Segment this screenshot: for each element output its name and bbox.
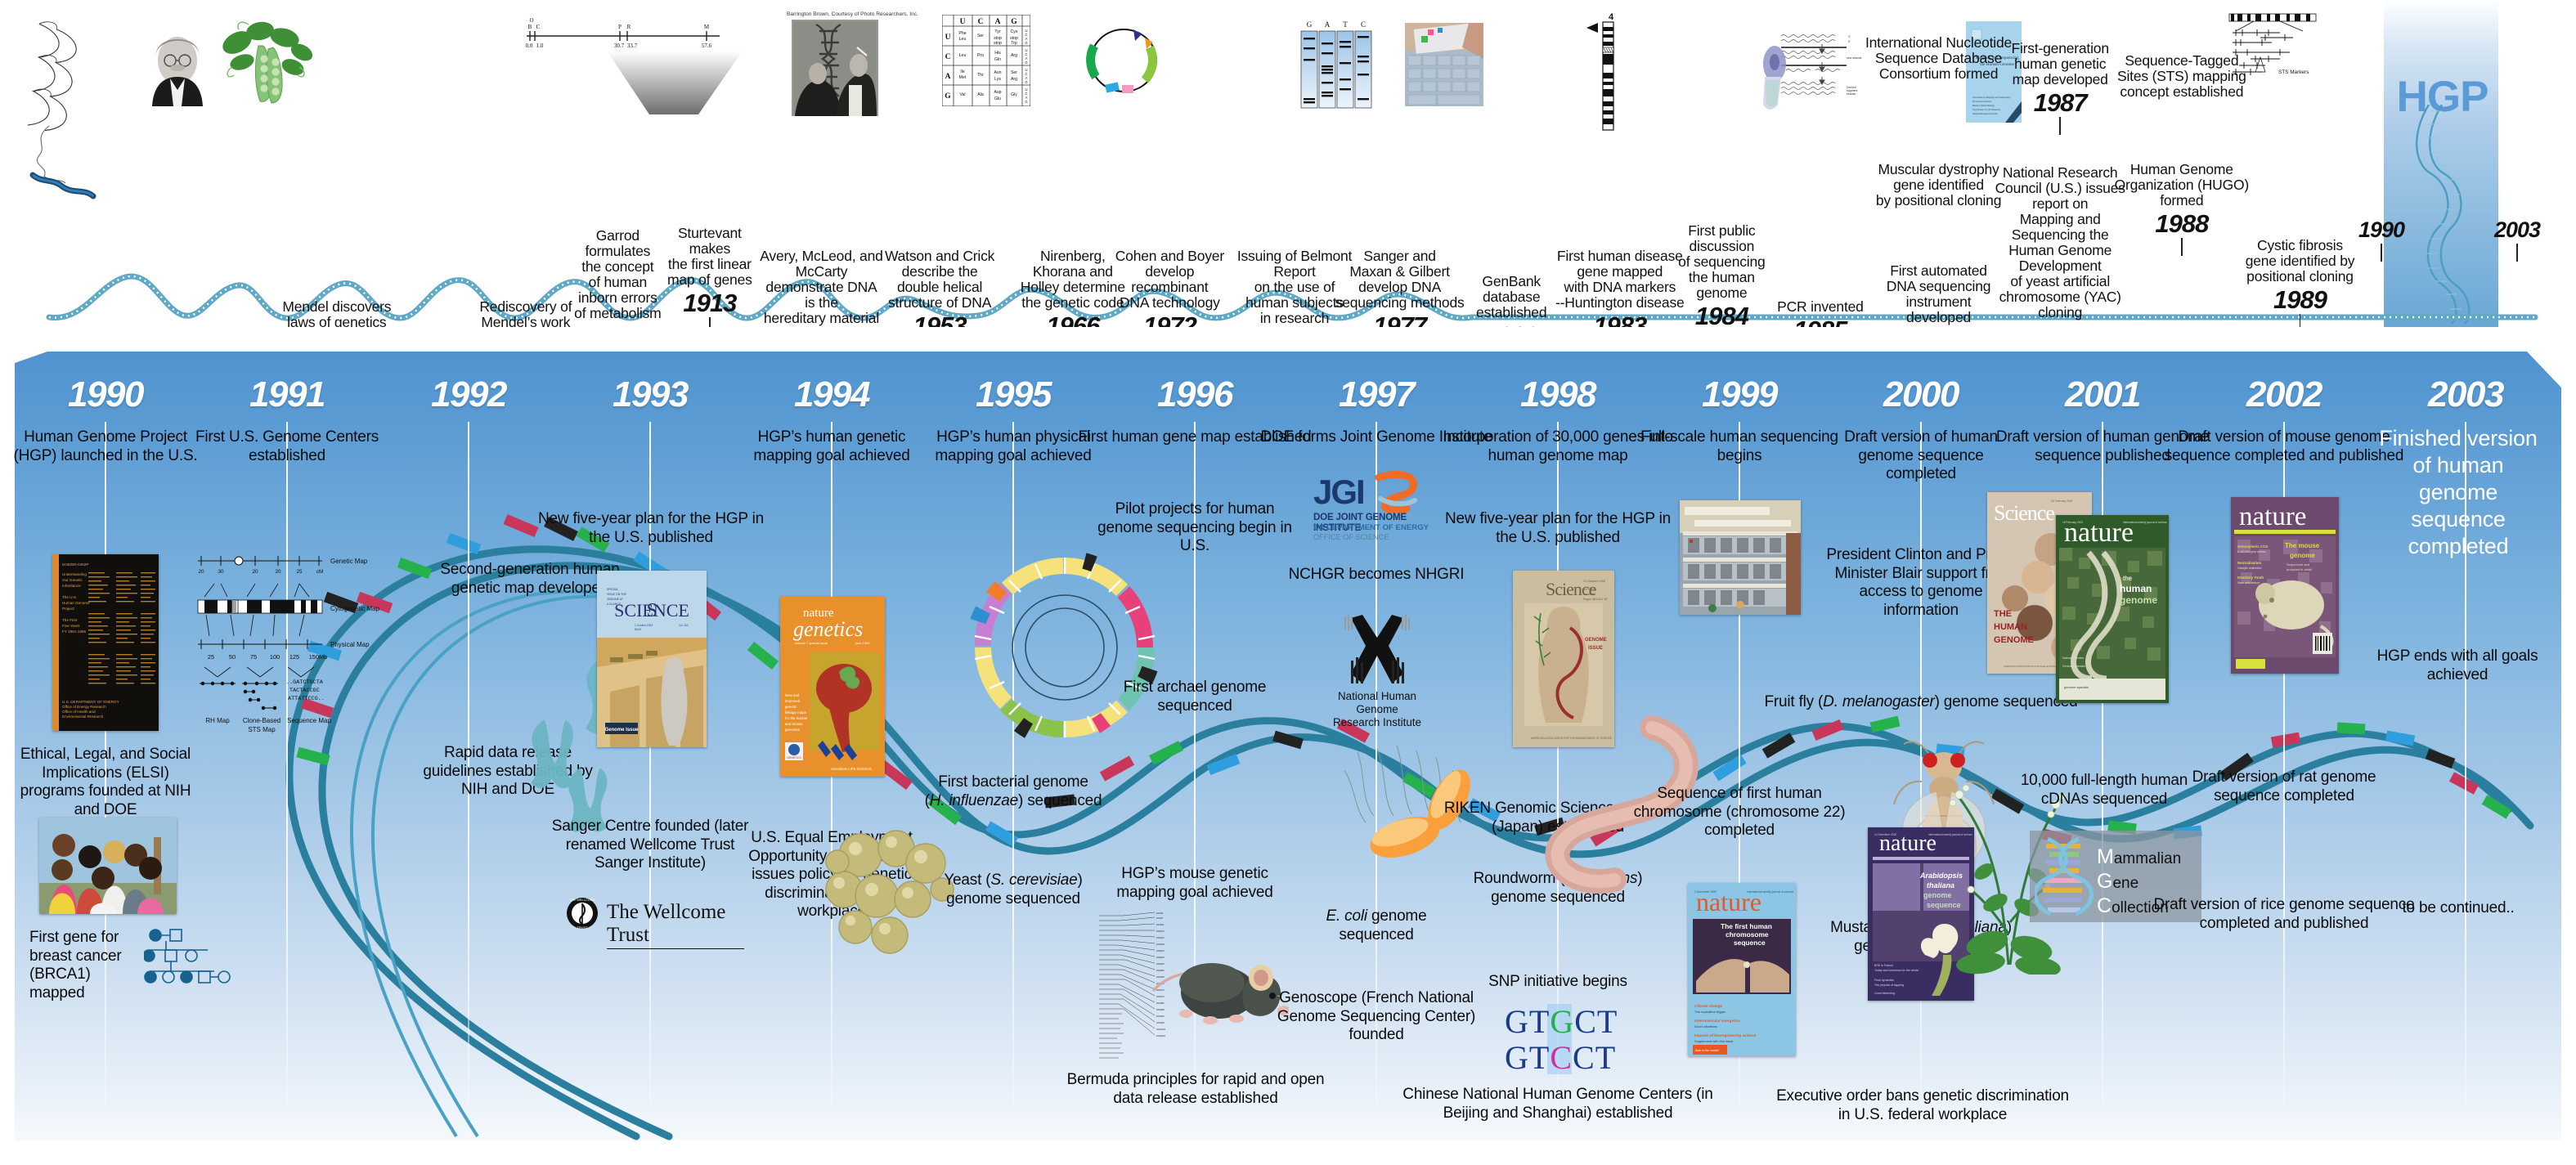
svg-text:genomes: genomes	[785, 728, 801, 732]
svg-text:Cys: Cys	[1011, 29, 1018, 34]
year-column-1991: 1991 First U.S. Genome Centers establish…	[196, 352, 378, 1140]
year-rule	[286, 422, 288, 1105]
historic-event-caption: Mendel discovers laws of genetics	[259, 299, 415, 327]
svg-text:stop: stop	[994, 41, 1002, 46]
year-column-1998: 1998 Incorporation of 30,000 genes into …	[1467, 352, 1649, 1140]
year-label: 1995	[922, 374, 1104, 415]
svg-text:Ile: Ile	[960, 69, 965, 74]
plasmid-map-diagram	[1078, 23, 1169, 98]
year-label: 1994	[741, 374, 922, 415]
svg-text:Climate change: Climate change	[1694, 1004, 1722, 1008]
jgi-mark: JGI	[1313, 473, 1364, 512]
svg-text:U.S. DEPARTMENT OF ENERGY: U.S. DEPARTMENT OF ENERGY	[62, 700, 119, 704]
year-column-1990: 1990 Human Genome Project (HGP) launched…	[15, 352, 196, 1140]
historic-event-1865: Mendel discovers laws of genetics1865	[259, 299, 415, 327]
svg-text:The First: The First	[62, 618, 78, 622]
svg-text:THE WELLCOME: THE WELLCOME	[569, 898, 595, 902]
genetic-map-label: Genetic Map	[330, 558, 368, 565]
svg-text:15 February 2001: 15 February 2001	[2062, 521, 2083, 524]
svg-text:Thr: Thr	[977, 73, 984, 78]
svg-text:Gly: Gly	[1011, 92, 1017, 97]
year-label: 1992	[378, 374, 559, 415]
svg-text:Sequenced and: Sequenced and	[2287, 562, 2309, 567]
svg-text:No. 5389: No. 5389	[1583, 593, 1595, 596]
nhgri-wordmark: National Human Genome Research Institute	[1320, 690, 1434, 729]
year-column-1992: 1992 Second-generation human genetic map…	[378, 352, 559, 1140]
historic-event-caption: Watson and Crick describe the double hel…	[862, 249, 1017, 311]
svg-text:D1Mit22: D1Mit22	[1156, 936, 1165, 939]
note-new-five-year-plan-1998: New five-year plan for the HGP in the U.…	[1438, 510, 1678, 547]
historic-event-caption: Human Genome Organization (HUGO) formed	[2104, 162, 2260, 208]
svg-text:Amersham LIFE SCIENCE: Amersham LIFE SCIENCE	[831, 767, 872, 771]
svg-text:50: 50	[229, 653, 236, 661]
svg-text:G: G	[1011, 18, 1017, 26]
svg-text:16 February 2001: 16 February 2001	[2051, 500, 2073, 503]
note-brca1-mapped: First gene for breast cancer (BRCA1) map…	[29, 929, 144, 1002]
historic-event-year: 1953	[862, 312, 1017, 327]
svg-text:DOE/ER-0452P: DOE/ER-0452P	[62, 562, 88, 567]
svg-text:U: U	[960, 18, 966, 26]
svg-text:14 December 2000: 14 December 2000	[1874, 833, 1896, 836]
svg-text:Understanding: Understanding	[62, 572, 87, 576]
svg-text:GENOME: GENOME	[1585, 638, 1607, 643]
jgi-logo: JGI DOE JOINT GENOME INSTITUTE US DEPART…	[1313, 473, 1443, 544]
note-first-bacterial-genome: First bacterial genome(H. influenzae) se…	[913, 773, 1114, 810]
historic-event-tick	[709, 317, 711, 327]
svg-text:ATTATTCCG..: ATTATTCCG..	[288, 696, 325, 702]
year-column-1993: 1993 New five-year plan for the HGP in t…	[559, 352, 741, 1140]
svg-text:FY 1991-1995: FY 1991-1995	[62, 630, 86, 634]
svg-text:the: the	[2123, 575, 2133, 582]
svg-text:strands: strands	[1847, 92, 1856, 96]
svg-text:Vol. 262: Vol. 262	[679, 624, 689, 627]
watson-crick-photo	[792, 20, 878, 116]
svg-text:Office of Energy Research: Office of Energy Research	[62, 705, 106, 709]
nature-mouse-genome-cover: nature The mousegenome Sequenced andanal…	[2231, 497, 2339, 674]
svg-text:GENOME: GENOME	[1994, 635, 2034, 645]
svg-text:new strands: new strands	[1847, 56, 1862, 60]
nature-genetics-cover: nature genetics volume 7 special issueju…	[780, 597, 885, 777]
svg-text:Ser: Ser	[1011, 70, 1017, 75]
year-label: 1999	[1649, 374, 1830, 415]
computer-keyboard-photo	[1405, 23, 1483, 106]
svg-text:C: C	[1361, 20, 1366, 29]
svg-text:U: U	[945, 34, 951, 42]
svg-text:genome specials: genome specials	[2064, 685, 2089, 689]
svg-text:TACTACCGC: TACTACCGC	[289, 688, 320, 694]
mgc-dna-icon	[2035, 836, 2095, 917]
historic-event-caption: Development of yeast artificial chromoso…	[1982, 258, 2138, 320]
svg-text:ISSUE ON THE: ISSUE ON THE	[607, 593, 627, 596]
svg-text:Lys: Lys	[994, 77, 1001, 82]
svg-text:GENOME AT: GENOME AT	[607, 598, 623, 601]
svg-text:D1Mit7: D1Mit7	[1156, 916, 1164, 920]
wellcome-trust-logo: THE WELLCOMETRUST The Wellcome Trust	[564, 896, 744, 930]
note-sanger-centre-founded: Sanger Centre founded (later renamed Wel…	[540, 818, 761, 873]
chromosome-4-ideogram: 4	[1586, 11, 1622, 134]
svg-text:A GLANCE: A GLANCE	[607, 603, 622, 606]
year-label: 1991	[196, 374, 378, 415]
svg-text:The crystalline trigger: The crystalline trigger	[1694, 1010, 1726, 1014]
svg-text:cM: cM	[316, 569, 324, 575]
svg-text:D1Mit16: D1Mit16	[1156, 930, 1165, 933]
note-genoscope-founded: Genoscope (French National Genome Sequen…	[1259, 989, 1493, 1045]
svg-text:A: A	[945, 73, 951, 81]
svg-text:1.0: 1.0	[536, 43, 544, 49]
year-column-2002: 2002 Draft version of mouse genome seque…	[2193, 352, 2375, 1140]
svg-text:ISSUE: ISSUE	[1588, 646, 1603, 651]
svg-text:..GATCTGCTA: ..GATCTGCTA	[286, 679, 324, 686]
nhgri-chromosome-icon	[1336, 613, 1418, 688]
year-column-2000: 2000 Draft version of human genome seque…	[1830, 352, 2012, 1140]
year-label: 2001	[2012, 374, 2193, 415]
svg-text:Catalytic antibodies: Catalytic antibodies	[2237, 567, 2262, 570]
svg-text:$7: $7	[1604, 598, 1608, 601]
svg-text:G: G	[945, 92, 951, 101]
svg-text:GENETICS: GENETICS	[787, 756, 801, 759]
wellcome-trust-seal-icon: THE WELLCOMETRUST	[564, 896, 600, 930]
year-column-1997: 1997 DOE forms Joint Genome Institute JG…	[1286, 352, 1467, 1140]
note-first-archael-genome: First archael genome sequenced	[1091, 679, 1299, 715]
year-column-1996: 1996 First human gene map established Pi…	[1104, 352, 1286, 1140]
note-rat-genome-draft: Draft version of rat genome sequence com…	[2165, 768, 2403, 805]
nature-first-human-chromosome-cover: nature 2 December 1999International week…	[1688, 883, 1796, 1056]
svg-text:BSE in France: BSE in France	[1874, 964, 1893, 967]
svg-text:$6.00: $6.00	[635, 628, 641, 631]
svg-text:genetic: genetic	[785, 705, 797, 709]
clone-sts-map-label: Clone-Based	[243, 717, 280, 724]
svg-text:Impacts of bioengineering scie: Impacts of bioengineering science	[1694, 1033, 1757, 1037]
svg-text:C: C	[945, 53, 951, 61]
svg-text:5': 5'	[1848, 40, 1851, 43]
sts-markers-label: STS Markers	[2278, 69, 2309, 75]
year-label: 2003	[2375, 374, 2556, 415]
cytogenetic-map-label: Cytogenetic Map	[330, 605, 380, 612]
svg-text:Atmospheric CO2: Atmospheric CO2	[2237, 544, 2269, 549]
svg-text:volume 7 special issue: volume 7 special issue	[795, 641, 828, 645]
sequence-map-label: Sequence Map	[287, 717, 331, 724]
sequencing-facility-photo	[1680, 500, 1801, 615]
svg-text:Asn: Asn	[994, 70, 1002, 75]
historic-event-caption: First public discussion of sequencing th…	[1644, 223, 1799, 301]
svg-text:nature: nature	[2239, 502, 2306, 531]
year-label: 1996	[1104, 374, 1286, 415]
svg-text:C: C	[536, 24, 541, 30]
svg-text:T: T	[1343, 20, 1348, 29]
historic-event-tick	[2181, 238, 2183, 256]
svg-text:20: 20	[198, 569, 204, 575]
wellcome-trust-wordmark: The Wellcome Trust	[607, 901, 744, 949]
svg-text:100: 100	[270, 653, 280, 661]
svg-text:genome: genome	[2120, 594, 2157, 606]
svg-text:2 December 1999: 2 December 1999	[1694, 890, 1717, 894]
svg-text:A: A	[1325, 20, 1331, 29]
historic-event-year: 2003	[2488, 216, 2547, 244]
year-column-1994: 1994 HGP’s human genetic mapping goal ac…	[741, 352, 922, 1140]
svg-text:International weekly journal o: International weekly journal of science	[2123, 521, 2167, 524]
svg-text:33.7: 33.7	[627, 43, 638, 49]
historic-event-caption: Sequence-Tagged Sites (STS) mapping conc…	[2104, 53, 2260, 100]
pcr-diagram: 3'5'new strandsDesiredfragmentstrands	[1757, 29, 1865, 118]
svg-text:Ser: Ser	[977, 34, 984, 38]
note-full-scale-sequencing: Full-scale human sequencing begins	[1636, 428, 1843, 465]
physical-map-label: Physical Map	[330, 641, 370, 648]
svg-text:International weekly journal o: International weekly journal of science	[1747, 890, 1793, 894]
svg-text:Ala: Ala	[977, 92, 984, 97]
svg-text:Leu: Leu	[959, 53, 967, 58]
svg-text:30.7: 30.7	[614, 43, 625, 49]
svg-text:A 420,000-year archive: A 420,000-year archive	[2237, 550, 2266, 553]
svg-text:The first human: The first human	[1721, 922, 1772, 930]
svg-text:and mouse: and mouse	[785, 722, 803, 726]
svg-text:Human Genome: Human Genome	[62, 601, 90, 605]
svg-text:THE: THE	[1994, 609, 2012, 619]
svg-text:C: C	[978, 18, 984, 26]
historic-bracket-year-2003: 2003	[2488, 214, 2547, 262]
pea-plant-illustration	[218, 16, 314, 110]
children-group-photo	[39, 818, 177, 914]
jgi-line3: OFFICE OF SCIENCE	[1313, 533, 1389, 541]
year-column-2001: 2001 Draft version of human genome seque…	[2012, 352, 2193, 1140]
svg-text:Pages 581-812: Pages 581-812	[1583, 598, 1603, 601]
note-hgp-ends: HGP ends with all goals achieved	[2373, 647, 2542, 684]
svg-text:30: 30	[218, 569, 224, 575]
science-genome-issue-cover: S SCIENCE SPECIALISSUE ON THEGENOME ATA …	[597, 571, 707, 747]
svg-text:B: B	[528, 24, 532, 30]
svg-text:G: G	[1307, 20, 1313, 29]
genome-map-types-diagram: 2030202025cM Genetic Map Cytogenetic Map…	[185, 548, 389, 752]
svg-text:Dentistry Tooth: Dentistry Tooth	[2237, 576, 2264, 580]
svg-text:Environmental Research: Environmental Research	[62, 715, 104, 719]
svg-text:Now on the market: Now on the market	[1695, 1049, 1719, 1052]
year-column-1999: 1999 Full-scale human sequencing begins …	[1649, 352, 1830, 1140]
svg-text:Good vibrations: Good vibrations	[1694, 1024, 1717, 1028]
mgc-line-gene: Gene	[2097, 870, 2138, 894]
svg-text:Fluid dynamics: Fluid dynamics	[1874, 979, 1894, 982]
historic-event-note-19: Development of yeast artificial chromoso…	[1982, 258, 2138, 320]
svg-text:Nature’s Review: Nature’s Review	[2062, 656, 2085, 660]
svg-text:SCIENCE: SCIENCE	[614, 600, 689, 621]
svg-text:23 October 1998: 23 October 1998	[1583, 580, 1605, 583]
hgp-first-five-years-report: DOE/ER-0452P UnderstandingOur GeneticInh…	[52, 554, 159, 731]
svg-text:The physics of tapping: The physics of tapping	[1874, 984, 1904, 987]
svg-text:Intermolecular energetics: Intermolecular energetics	[1694, 1019, 1740, 1023]
note-to-be-continued: to be continued..	[2393, 899, 2524, 918]
historic-event-1953: Watson and Crick describe the double hel…	[862, 249, 1017, 327]
svg-text:G: G	[1025, 60, 1027, 65]
svg-text:june 1994: june 1994	[855, 641, 870, 645]
historic-event-year: 1989	[2223, 286, 2378, 314]
note-first-genome-centers: First U.S. Genome Centers established	[191, 428, 383, 465]
svg-text:genetics: genetics	[793, 617, 863, 641]
year-label: 1998	[1467, 374, 1649, 415]
year-label: 1997	[1286, 374, 1467, 415]
svg-text:G: G	[1025, 41, 1027, 45]
svg-text:Arg: Arg	[1011, 77, 1017, 82]
svg-text:Project:: Project:	[62, 607, 75, 611]
historic-event-tick	[2381, 244, 2382, 262]
codon-table-diagram: UCAG UCAG PheLeuSer Tyrstopstop CysstopT…	[942, 15, 1030, 106]
svg-text:25: 25	[208, 653, 214, 661]
svg-text:Trp: Trp	[1011, 41, 1017, 46]
svg-text:Our Genetic: Our Genetic	[62, 578, 83, 582]
note-nchgr-nhgri: NCHGR becomes NHGRI	[1268, 566, 1485, 585]
svg-text:20: 20	[275, 569, 281, 575]
svg-text:Glu: Glu	[994, 96, 1001, 101]
svg-text:The mouse: The mouse	[2285, 542, 2320, 549]
svg-text:human: human	[2120, 583, 2152, 594]
note-pilot-sequencing-projects: Pilot projects for human genome sequenci…	[1091, 500, 1299, 556]
jgi-line2: US DEPARTMENT OF ENERGY	[1313, 523, 1429, 532]
note-finished-version: Finished version of human genome sequenc…	[2378, 425, 2538, 560]
note-new-five-year-plan-1993: New five-year plan for the HGP in the U.…	[536, 510, 765, 547]
year-column-2003: 2003 Finished version of human genome se…	[2375, 352, 2556, 1140]
historic-event-tick	[2300, 314, 2301, 327]
svg-text:for the human: for the human	[785, 716, 808, 720]
svg-text:sequence: sequence	[1734, 939, 1766, 947]
mgc-line-mammalian: Mammalian	[2097, 845, 2181, 869]
snp-sequence-graphic: GTGCT GTCCT	[1505, 1002, 1660, 1076]
historic-event-note-21: Sequence-Tagged Sites (STS) mapping conc…	[2104, 53, 2260, 100]
svg-text:Today and tomorrow for the who: Today and tomorrow for the whole	[1874, 969, 1919, 972]
sequencing-gel-diagram: GATC	[1299, 20, 1374, 111]
svg-text:0.0: 0.0	[526, 43, 533, 49]
year-column-1995: 1995 HGP’s human physical mapping goal a…	[922, 352, 1104, 1140]
svg-text:O: O	[529, 17, 533, 24]
note-yeast-genome: Yeast (S. cerevisiae)genome sequenced	[913, 872, 1114, 908]
svg-text:Five Years: Five Years	[62, 624, 80, 628]
svg-text:M: M	[704, 24, 710, 30]
year-label: 1993	[559, 374, 741, 415]
snp-top-sequence: GTGCT	[1505, 1002, 1618, 1041]
svg-text:25: 25	[296, 569, 303, 575]
svg-text:D1Mit3: D1Mit3	[1156, 912, 1164, 915]
svg-text:Asp: Asp	[994, 90, 1002, 95]
svg-text:Genome specials: Genome specials	[2062, 665, 2085, 668]
note-genetic-mapping-goal: HGP’s human genetic mapping goal achieve…	[729, 428, 934, 465]
note-mouse-mapping-goal: HGP’s mouse genetic mapping goal achieve…	[1091, 865, 1299, 902]
svg-text:HUMAN: HUMAN	[1994, 622, 2027, 632]
note-elsi-programs: Ethical, Legal, and Social Implications …	[10, 746, 201, 819]
rh-map-label: RH Map	[205, 717, 230, 724]
svg-text:improved: improved	[785, 699, 801, 703]
historic-event-tick	[2059, 117, 2061, 135]
svg-text:TRUST: TRUST	[577, 925, 588, 930]
year-label: 2002	[2193, 374, 2375, 415]
svg-text:G: G	[1025, 80, 1027, 84]
svg-text:Genome Issue: Genome Issue	[604, 728, 639, 733]
svg-text:SPECIAL: SPECIAL	[607, 588, 618, 591]
note-snp-initiative: SNP initiative begins	[1439, 973, 1676, 992]
svg-text:150Mb: 150Mb	[309, 653, 328, 661]
svg-text:STS Map: STS Map	[248, 726, 276, 733]
jgi-swoosh-icon	[1374, 471, 1420, 513]
svg-text:Inheritance: Inheritance	[62, 584, 81, 588]
svg-text:Arg: Arg	[1011, 53, 1017, 58]
svg-text:analysed in detail: analysed in detail	[2287, 567, 2312, 571]
note-chromosome-22: Sequence of first human chromosome (chro…	[1632, 785, 1847, 840]
note-ecoli-genome: E. coli genomesequenced	[1268, 907, 1485, 944]
year-label: 1990	[15, 374, 196, 415]
year-label: 2000	[1830, 374, 2012, 415]
svg-text:A: A	[995, 18, 1001, 26]
nature-human-genome-cover: nature 15 February 2001International wee…	[2056, 515, 2169, 703]
svg-text:Pro: Pro	[977, 53, 984, 58]
svg-text:Met: Met	[959, 75, 967, 80]
svg-text:Coral bleaching: Coral bleaching	[1874, 992, 1895, 995]
svg-text:G: G	[1025, 100, 1027, 104]
svg-text:Phe: Phe	[958, 31, 966, 36]
svg-text:Vol. 282: Vol. 282	[1583, 588, 1594, 591]
note-hgp-launched: Human Genome Project (HGP) launched in t…	[10, 428, 201, 465]
svg-text:genome: genome	[2290, 552, 2315, 559]
svg-text:Supplement with this issue: Supplement with this issue	[1694, 1039, 1734, 1043]
svg-text:125: 125	[289, 653, 299, 661]
historic-bracket-year-1990: 1990	[2352, 214, 2411, 262]
svg-text:chromosome: chromosome	[1726, 930, 1769, 939]
svg-text:4: 4	[1609, 12, 1614, 22]
svg-text:P: P	[618, 24, 622, 30]
svg-text:3': 3'	[1848, 35, 1851, 38]
linkage-map-diagram: OBC 0.01.0 PR 30.733.7 M57.6	[520, 15, 725, 49]
nhgri-logo: National Human Genome Research Institute	[1328, 613, 1426, 724]
historic-event-year: 1990	[2352, 216, 2411, 244]
year-rule	[1012, 422, 1014, 1105]
svg-text:The U.S.: The U.S.	[62, 595, 77, 599]
svg-text:Office of Health and: Office of Health and	[62, 710, 96, 714]
svg-text:Val: Val	[959, 92, 965, 97]
svg-text:1 October 1993: 1 October 1993	[635, 624, 653, 627]
svg-text:Stem cells restore: Stem cells restore	[2237, 581, 2260, 585]
historic-event-year: 1988	[2104, 210, 2260, 238]
svg-text:D1Mit11: D1Mit11	[1156, 923, 1165, 926]
svg-text:75: 75	[250, 653, 257, 661]
historic-timeline-band: OBC 0.01.0 PR 30.733.7 M57.6	[0, 0, 2576, 327]
svg-text:Leu: Leu	[959, 37, 967, 42]
mendel-portrait	[146, 25, 209, 106]
snp-bottom-sequence: GTCCT	[1505, 1038, 1616, 1077]
svg-text:Tyr: Tyr	[994, 29, 1000, 34]
svg-text:His: His	[994, 51, 1001, 56]
svg-text:57.6: 57.6	[702, 43, 712, 49]
historic-event-tick	[2516, 244, 2518, 262]
svg-text:Science: Science	[1994, 501, 2054, 525]
funnel-shape	[607, 51, 743, 114]
svg-text:20: 20	[252, 569, 258, 575]
svg-text:Gln: Gln	[994, 57, 1001, 62]
svg-text:Neutralisation: Neutralisation	[2237, 561, 2262, 565]
svg-text:New and: New and	[785, 693, 800, 697]
svg-text:R: R	[627, 24, 631, 30]
photo-credit: Barrington Brown, Courtesy of Photo Rese…	[787, 11, 918, 17]
svg-text:linkage maps: linkage maps	[785, 710, 807, 715]
